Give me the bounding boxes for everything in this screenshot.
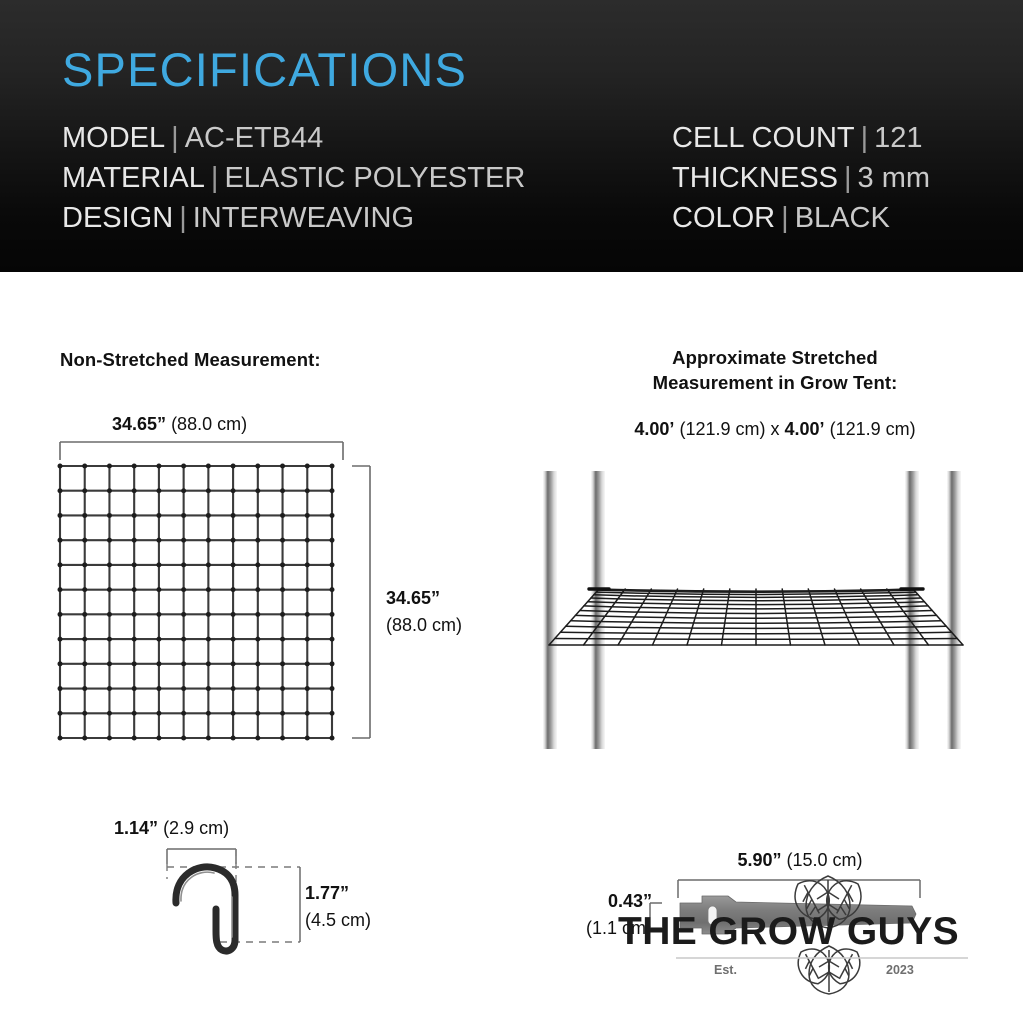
net-height-cm: (88.0 cm) [386,615,462,635]
tent-dimension-label: 4.00’ (121.9 cm) x 4.00’ (121.9 cm) [560,417,990,442]
net-width-dimension-label: 34.65” (88.0 cm) [112,412,247,437]
non-stretched-heading: Non-Stretched Measurement: [60,348,321,372]
spec-row-material: MATERIAL|ELASTIC POLYESTER [62,158,525,198]
tent-depth-cm: (121.9 cm) [830,419,916,439]
watermark-brand-name: THE GROW GUYS [618,910,1023,954]
stretched-heading-line2: Measurement in Grow Tent: [560,370,990,395]
tent-width-feet: 4.00’ [634,419,674,439]
height-bracket [352,466,370,738]
tent-net-diagram [533,455,1003,765]
spec-value: ELASTIC POLYESTER [224,162,525,194]
spec-row-color: COLOR|BLACK [672,198,930,238]
tent-pole-front-left [543,471,557,749]
spec-key: COLOR [672,202,775,234]
brand-watermark: THE GROW GUYS Est. 2023 [618,870,1023,995]
spec-value: AC-ETB44 [185,122,324,154]
hook-width-bracket [167,849,236,864]
s-hook-diagram [160,845,330,975]
specifications-header: SPECIFICATIONS MODEL|AC-ETB44 MATERIAL|E… [0,0,1023,272]
spec-separator: | [173,202,193,234]
spec-row-thickness: THICKNESS|3 mm [672,158,930,198]
spec-column-right: CELL COUNT|121 THICKNESS|3 mm COLOR|BLAC… [672,118,930,238]
spec-row-model: MODEL|AC-ETB44 [62,118,525,158]
hook-width-inches: 1.14” [114,818,158,838]
s-hook-highlight [181,872,232,937]
spec-key: DESIGN [62,202,173,234]
tent-pole-back-left [591,471,605,749]
tent-pole-back-right [905,471,919,749]
specification-sheet: SPECIFICATIONS MODEL|AC-ETB44 MATERIAL|E… [0,0,1023,1023]
tent-pole-front-right [947,471,961,749]
net-height-inches: 34.65” [386,588,440,608]
spec-column-left: MODEL|AC-ETB44 MATERIAL|ELASTIC POLYESTE… [62,118,525,238]
spec-value: 121 [874,122,922,154]
spec-separator: | [165,122,185,154]
spec-row-cell-count: CELL COUNT|121 [672,118,930,158]
watermark-est-year: 2023 [886,963,914,977]
width-bracket [60,442,343,460]
page-title: SPECIFICATIONS [62,42,467,97]
spec-key: MODEL [62,122,165,154]
spec-key: CELL COUNT [672,122,855,154]
net-width-inches: 34.65” [112,414,166,434]
spec-separator: | [855,122,875,154]
flat-net-grid-diagram [48,438,388,768]
spec-value: INTERWEAVING [193,202,414,234]
s-hook-shape [176,867,235,951]
watermark-est-label: Est. [714,963,737,977]
dimension-multiplier: x [771,419,780,439]
net-grid-lines [60,466,332,738]
stretched-net [549,589,963,645]
spec-value: BLACK [795,202,890,234]
spec-key: MATERIAL [62,162,205,194]
hook-width-dimension-label: 1.14” (2.9 cm) [114,816,229,841]
tent-width-cm: (121.9 cm) [679,419,765,439]
tent-depth-feet: 4.00’ [785,419,825,439]
stretched-heading: Approximate Stretched Measurement in Gro… [560,345,990,395]
spec-key: THICKNESS [672,162,838,194]
spec-separator: | [838,162,858,194]
net-width-cm: (88.0 cm) [171,414,247,434]
net-height-dimension-label: 34.65” (88.0 cm) [386,585,462,639]
spec-row-design: DESIGN|INTERWEAVING [62,198,525,238]
spec-value: 3 mm [858,162,931,194]
spec-separator: | [205,162,225,194]
hook-width-cm: (2.9 cm) [163,818,229,838]
net-grid-knots [58,464,335,741]
spec-separator: | [775,202,795,234]
stretched-heading-line1: Approximate Stretched [560,345,990,370]
